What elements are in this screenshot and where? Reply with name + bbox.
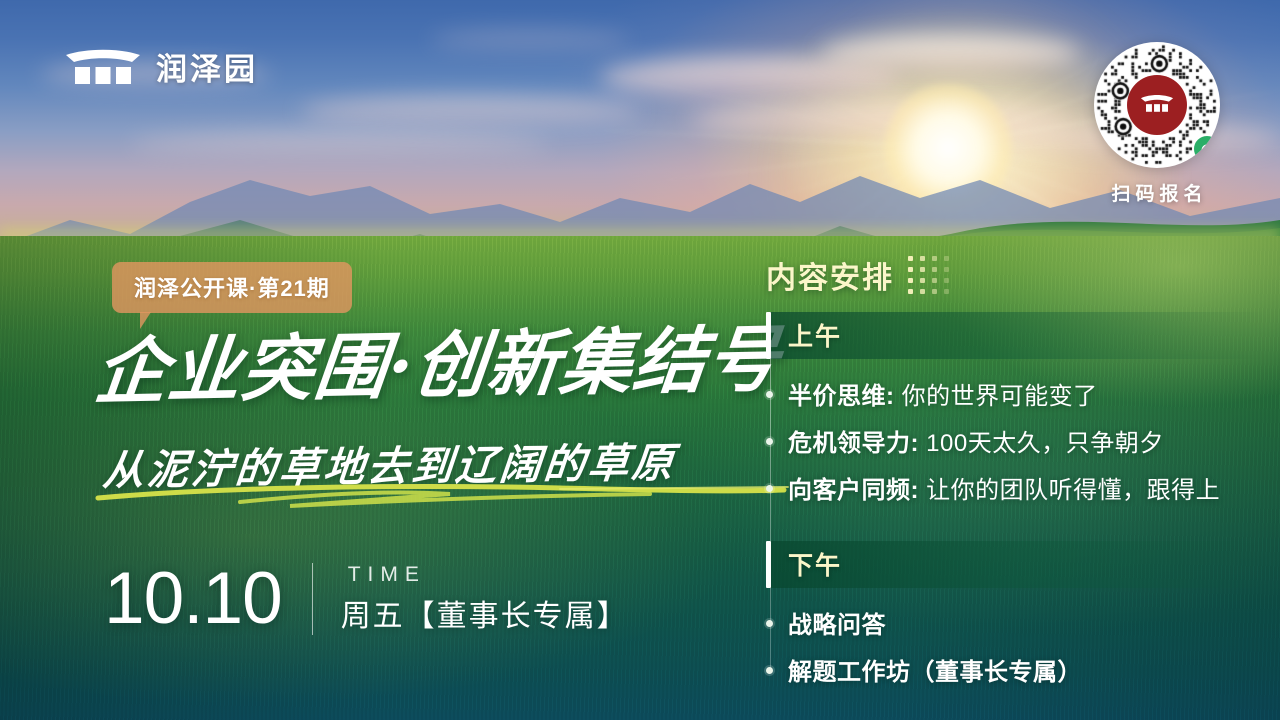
qr-code[interactable]: [1094, 42, 1220, 168]
agenda-section-label: 下午: [788, 546, 1266, 582]
agenda-section-header: 上午: [766, 312, 1266, 359]
agenda-item-text: 战略问答: [788, 610, 1266, 641]
grid-dot: [920, 278, 925, 283]
agenda-item: 危机领导力: 100天太久，只争朝夕: [788, 420, 1266, 467]
grid-dot: [932, 278, 937, 283]
agenda-section-label: 上午: [788, 317, 1266, 353]
agenda-item-desc: 让你的团队听得懂，跟得上: [919, 477, 1220, 504]
agenda-title: 内容安排: [766, 253, 894, 297]
agenda-panel: 内容安排 上午半价思维: 你的世界可能变了危机领导力: 100天太久，只争朝夕向…: [766, 256, 1266, 696]
grid-dot: [908, 267, 913, 272]
gate-torii-icon: [1140, 94, 1174, 116]
agenda-item: 向客户同频: 让你的团队听得懂，跟得上: [788, 467, 1266, 514]
agenda-item-term: 半价思维:: [788, 383, 895, 410]
grid-dot: [932, 256, 937, 261]
event-date-detail: 周五【董事长专属】: [341, 591, 629, 635]
hero-block: 润泽公开课·第21期 企业突围·创新集结号 从泥泞的草地去到辽阔的草原 10.1…: [0, 0, 760, 720]
section-gap: [788, 359, 1266, 373]
course-series-badge: 润泽公开课·第21期: [112, 262, 352, 313]
agenda-item-term: 危机领导力:: [788, 430, 919, 457]
event-poster: 润泽园 扫码报名 润泽公开课·第21期 企业突围·创新集结号: [0, 0, 1280, 720]
agenda-item-desc: 100天太久，只争朝夕: [919, 430, 1164, 457]
wechat-miniprogram-icon: [1192, 134, 1220, 164]
agenda-item: 半价思维: 你的世界可能变了: [788, 373, 1266, 420]
grid-dot: [932, 267, 937, 272]
cloud: [820, 36, 1080, 70]
dot-grid-decoration: [908, 256, 949, 294]
qr-center-logo: [1127, 75, 1187, 135]
divider: [312, 563, 313, 635]
grid-dot: [944, 289, 949, 294]
agenda-timeline: 上午半价思维: 你的世界可能变了危机领导力: 100天太久，只争朝夕向客户同频:…: [766, 312, 1266, 696]
agenda-item: 解题工作坊（董事长专属）: [788, 649, 1266, 696]
grid-dot: [908, 289, 913, 294]
brush-underline: [90, 476, 790, 512]
subtitle-block: 从泥泞的草地去到辽阔的草原: [104, 432, 764, 492]
event-date: 10.10: [104, 562, 282, 635]
section-gap: [788, 515, 1266, 541]
agenda-item-text: 解题工作坊（董事长专属）: [788, 657, 1266, 688]
grid-dot: [932, 289, 937, 294]
grid-dot: [944, 256, 949, 261]
page-title: 企业突围·创新集结号: [92, 324, 741, 408]
agenda-header: 内容安排: [766, 256, 1266, 294]
event-date-block: 10.10 TIME 周五【董事长专属】: [104, 562, 629, 635]
time-label: TIME: [341, 563, 629, 587]
grid-dot: [944, 267, 949, 272]
section-gap: [788, 588, 1266, 602]
agenda-item-text: 半价思维: 你的世界可能变了: [788, 381, 1266, 412]
agenda-section-header: 下午: [766, 541, 1266, 588]
agenda-item-text: 危机领导力: 100天太久，只争朝夕: [788, 428, 1266, 459]
grid-dot: [908, 278, 913, 283]
agenda-item-text: 向客户同频: 让你的团队听得懂，跟得上: [788, 475, 1266, 506]
grid-dot: [920, 256, 925, 261]
grid-dot: [920, 267, 925, 272]
agenda-item-term: 向客户同频:: [788, 477, 919, 504]
agenda-item-desc: 你的世界可能变了: [895, 383, 1098, 410]
agenda-item: 战略问答: [788, 602, 1266, 649]
timeline-line: [770, 322, 771, 670]
qr-caption: 扫码报名: [1094, 179, 1220, 206]
grid-dot: [944, 278, 949, 283]
qr-signup-block[interactable]: 扫码报名: [1094, 42, 1220, 206]
grid-dot: [920, 289, 925, 294]
grid-dot: [908, 256, 913, 261]
